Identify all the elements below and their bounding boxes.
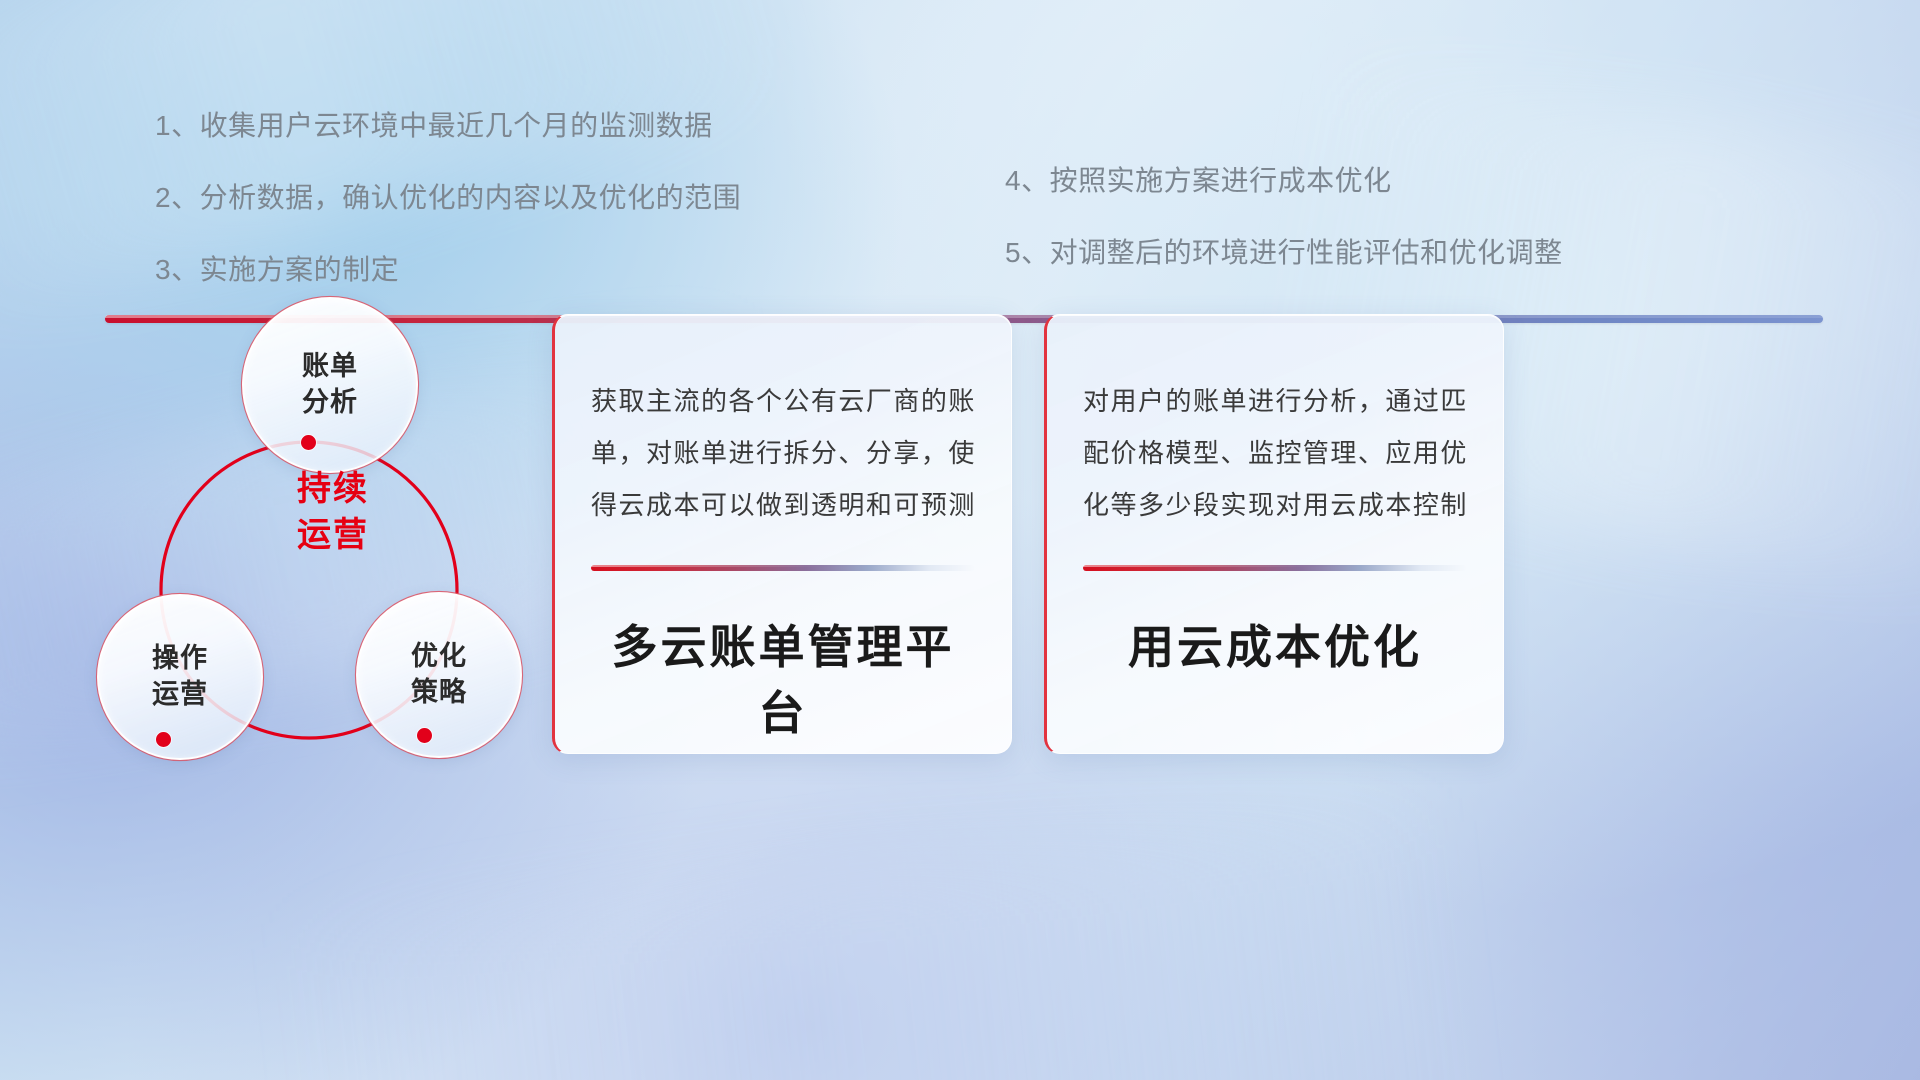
list-item: 1、 收集用户云环境中最近几个月的监测数据 [155, 100, 741, 152]
venn-node-dot-top [301, 435, 316, 450]
venn-bubble-label-line2: 分析 [302, 385, 358, 421]
card-body-text: 对用户的账单进行分析，通过匹配价格模型、监控管理、应用优化等多少段实现对用云成本… [1083, 375, 1467, 531]
venn-center-label-line1: 持续 [253, 467, 413, 513]
card-multicloud-billing-platform[interactable]: 获取主流的各个公有云厂商的账单，对账单进行拆分、分享，使得云成本可以做到透明和可… [552, 314, 1012, 754]
venn-bubble-operations[interactable]: 操作 运营 [97, 594, 263, 760]
list-item-number: 1、 [155, 112, 200, 140]
card-divider [1083, 565, 1467, 571]
list-item-label: 对调整后的环境进行性能评估和优化调整 [1050, 239, 1563, 267]
list-item-label: 实施方案的制定 [200, 256, 400, 284]
list-item-number: 2、 [155, 184, 200, 212]
steps-list-left: 1、 收集用户云环境中最近几个月的监测数据 2、 分析数据，确认优化的内容以及优… [155, 100, 741, 316]
card-cloud-cost-optimization[interactable]: 对用户的账单进行分析，通过匹配价格模型、监控管理、应用优化等多少段实现对用云成本… [1044, 314, 1504, 754]
slide-canvas: 1、 收集用户云环境中最近几个月的监测数据 2、 分析数据，确认优化的内容以及优… [0, 0, 1920, 1080]
venn-diagram: 账单 分析 操作 运营 优化 策略 持续 运营 [95, 355, 615, 955]
venn-bubble-label-line2: 策略 [411, 675, 467, 711]
steps-list-right: 4、 按照实施方案进行成本优化 5、 对调整后的环境进行性能评估和优化调整 [1005, 155, 1563, 299]
list-item-number: 4、 [1005, 167, 1050, 195]
venn-bubble-label-line1: 操作 [152, 641, 208, 677]
list-item-number: 3、 [155, 256, 200, 284]
list-item-number: 5、 [1005, 239, 1050, 267]
card-title: 用云成本优化 [1083, 611, 1467, 677]
card-divider [591, 565, 975, 571]
list-item-label: 收集用户云环境中最近几个月的监测数据 [200, 112, 713, 140]
venn-node-dot-left [156, 732, 171, 747]
list-item: 2、 分析数据，确认优化的内容以及优化的范围 [155, 172, 741, 224]
venn-center-label-line2: 运营 [253, 513, 413, 559]
list-item: 5、 对调整后的环境进行性能评估和优化调整 [1005, 227, 1563, 279]
venn-bubble-billing-analysis[interactable]: 账单 分析 [242, 297, 418, 473]
venn-bubble-optimization-strategy[interactable]: 优化 策略 [356, 592, 522, 758]
list-item: 3、 实施方案的制定 [155, 244, 741, 296]
list-item-label: 按照实施方案进行成本优化 [1050, 167, 1392, 195]
venn-bubble-label-line1: 账单 [302, 349, 358, 385]
card-title: 多云账单管理平台 [591, 611, 975, 743]
list-item-label: 分析数据，确认优化的内容以及优化的范围 [200, 184, 742, 212]
list-item: 4、 按照实施方案进行成本优化 [1005, 155, 1563, 207]
venn-bubble-label-line2: 运营 [152, 677, 208, 713]
venn-node-dot-right [417, 728, 432, 743]
venn-center-label: 持续 运营 [253, 467, 413, 559]
card-body-text: 获取主流的各个公有云厂商的账单，对账单进行拆分、分享，使得云成本可以做到透明和可… [591, 375, 975, 531]
venn-bubble-label-line1: 优化 [411, 639, 467, 675]
